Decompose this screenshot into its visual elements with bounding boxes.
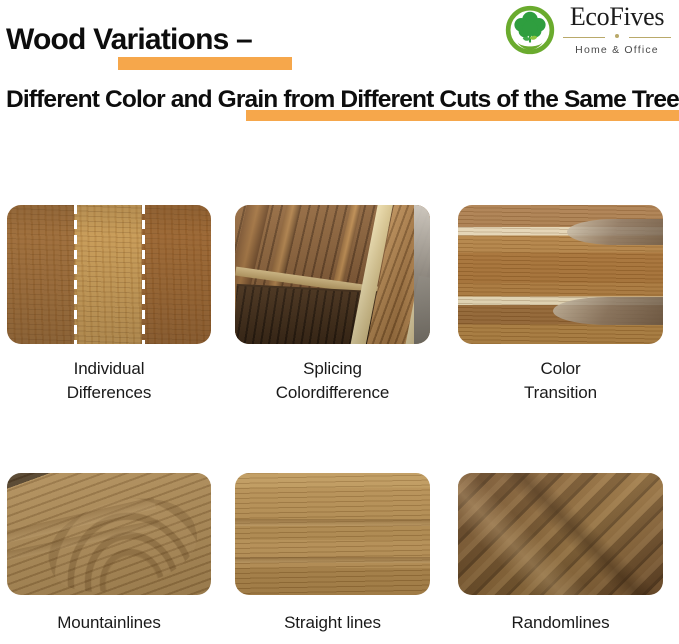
title-highlight-bar-primary — [118, 57, 292, 70]
swatch-caption: Individual Differences — [7, 357, 211, 405]
brand-wordmark: EcoFives — [570, 4, 664, 30]
wood-swatch-straight-lines — [235, 473, 430, 595]
swatch-caption-line-1: Color — [458, 357, 663, 381]
swatch-caption-line-2: Differences — [7, 381, 211, 405]
swatch-caption-line-1: Randomlines — [458, 611, 663, 635]
wood-swatch-mountainlines — [7, 473, 211, 595]
swatch-caption-line-2: Colordifference — [235, 381, 430, 405]
wood-swatch-color-transition — [458, 205, 663, 344]
wood-swatch-randomlines — [458, 473, 663, 595]
swatch-caption: Straight lines — [235, 611, 430, 635]
grid-cell: Splicing Colordifference — [235, 205, 430, 405]
grid-cell: Individual Differences — [7, 205, 211, 405]
grid-cell: Straight lines — [235, 473, 430, 635]
swatch-caption: Color Transition — [458, 357, 663, 405]
page-title: Wood Variations – — [6, 25, 252, 55]
wood-swatch-individual-differences — [7, 205, 211, 344]
page-subtitle: Different Color and Grain from Different… — [6, 88, 679, 113]
swatch-caption-line-1: Splicing — [235, 357, 430, 381]
swatch-caption-line-1: Straight lines — [235, 611, 430, 635]
swatch-caption-line-1: Individual — [7, 357, 211, 381]
swatch-caption: Splicing Colordifference — [235, 357, 430, 405]
brand-tagline: Home & Office — [575, 45, 659, 56]
grid-cell: Color Transition — [458, 205, 663, 405]
grid-cell: Randomlines — [458, 473, 663, 635]
brand-logo: EcoFives Home & Office — [504, 4, 671, 56]
grid-cell: Mountainlines — [7, 473, 211, 635]
swatch-caption: Randomlines — [458, 611, 663, 635]
page-title-text: Wood Variations – — [6, 23, 252, 56]
tree-in-circle-logo-icon — [504, 4, 556, 56]
swatch-caption-line-1: Mountainlines — [7, 611, 211, 635]
wood-swatch-splicing-colordifference — [235, 205, 430, 344]
page-header: Wood Variations – Different Color and Gr… — [0, 0, 679, 140]
swatch-caption: Mountainlines — [7, 611, 211, 635]
swatch-caption-line-2: Transition — [458, 381, 663, 405]
page-subtitle-text: Different Color and Grain from Different… — [6, 86, 679, 113]
brand-divider — [563, 33, 671, 42]
brand-logo-text: EcoFives Home & Office — [563, 4, 671, 56]
